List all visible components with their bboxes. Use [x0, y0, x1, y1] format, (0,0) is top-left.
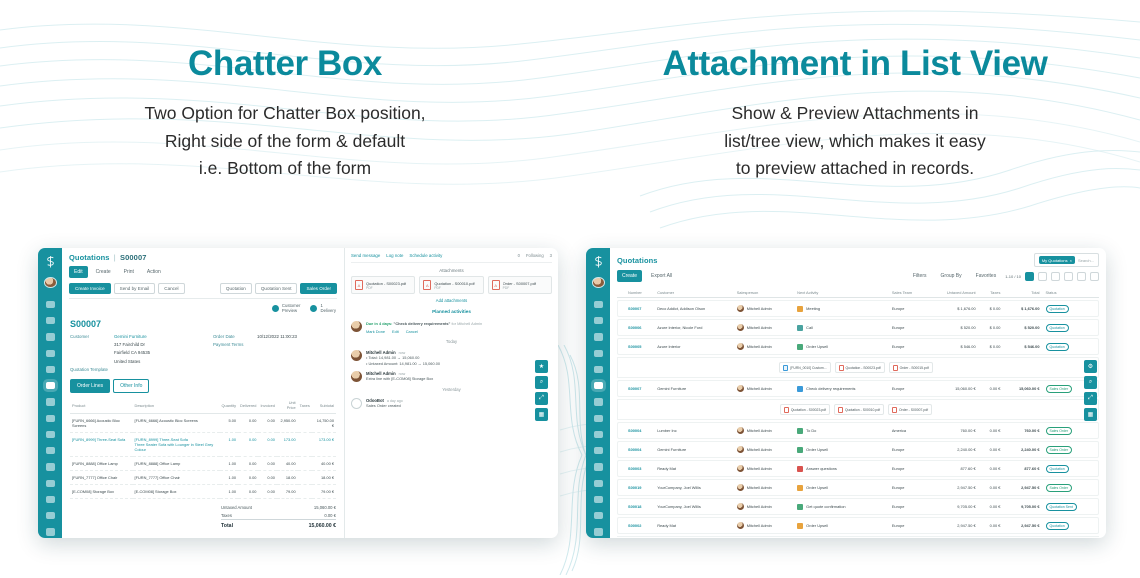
line-product: [FURN_8888] Office Lamp [70, 457, 133, 471]
table-row[interactable]: S00006Azure Interior, Nicole FordMitchel… [617, 319, 1099, 336]
activity-icon [797, 485, 803, 491]
record-number[interactable]: S00018 [628, 504, 641, 509]
avatar [737, 484, 744, 491]
col-delivered[interactable]: Delivered [238, 397, 258, 414]
statusbar-quotation-sent[interactable]: Quotation Sent [255, 283, 298, 294]
attachment-chip[interactable]: Quotation - S00023.pdf [835, 362, 885, 373]
planned-activities-heading[interactable]: Planned activities [351, 309, 552, 314]
cell-customer: YourCompany, Joel Willis [654, 498, 734, 515]
delivery-label: Delivery [320, 308, 336, 313]
avatar [737, 522, 744, 529]
table-row[interactable]: S00007Gemini FurnitureMitchell AdminChec… [617, 380, 1099, 397]
breadcrumb-record: S00007 [120, 253, 146, 262]
message-body: • Total: 14,981.00 → 15,060.00• Untaxed … [366, 355, 440, 367]
cell-total: 2,240.00 € [1003, 441, 1042, 458]
search-icon[interactable]: ⌕ [535, 376, 548, 389]
cell-sales-team: America [889, 422, 928, 439]
edit-activity-link[interactable]: Edit [392, 329, 399, 334]
create-button[interactable]: Create [617, 270, 642, 282]
group-by-button[interactable]: Group By [936, 270, 967, 282]
activity-icon [797, 428, 803, 434]
attachment-chip[interactable]: AQuotation - S00010.pdfPDF [419, 276, 483, 294]
sidebar-item-messages[interactable] [594, 301, 603, 308]
attachment-chip[interactable]: Order - S00015.pdf [889, 362, 933, 373]
total-label: Untaxed Amount [221, 505, 252, 510]
attachment-name: Quotation - S00023.pdf [791, 408, 826, 412]
salesperson-name: Mitchell Admin [747, 504, 772, 509]
activity-label: Check delivery requirements [806, 386, 855, 391]
customer-preview-button[interactable]: CustomerPreview [272, 303, 301, 314]
cell-sales-team: Europe [889, 338, 928, 355]
avatar [737, 446, 744, 453]
attachment-chip[interactable]: AQuotation - S00023.pdfPDF [351, 276, 415, 294]
cell-status: Quotation [1043, 517, 1100, 534]
pdf-icon: A [355, 280, 363, 290]
activity-icon [797, 504, 803, 510]
line-delivered: 0.00 [238, 471, 258, 485]
total-value: 0.00 € [324, 513, 336, 518]
salesperson-name: Mitchell Admin [747, 523, 772, 528]
cancel-button[interactable]: Cancel [158, 283, 184, 294]
sidebar-item-inventory[interactable] [594, 415, 603, 422]
row-select-cell [617, 479, 625, 496]
sidebar-item-recruitment[interactable] [594, 496, 603, 503]
delivery-count: 1 [320, 303, 322, 308]
activity-icon[interactable] [1090, 272, 1099, 281]
grid-icon[interactable]: ▦ [1084, 408, 1097, 421]
avatar [737, 385, 744, 392]
grid-icon[interactable]: ▦ [535, 408, 548, 421]
cell-salesperson: Mitchell Admin [734, 517, 794, 534]
attachment-chip[interactable]: Quotation - S00010.pdf [834, 404, 884, 415]
attachment-name: Quotation - S00010.pdf [845, 408, 880, 412]
favorites-button[interactable]: Favorites [971, 270, 1002, 282]
sidebar-item-contacts[interactable] [46, 350, 55, 357]
table-row[interactable]: [FURN_8999] Three-Seat Sofa[FURN_8999] T… [70, 433, 336, 457]
line-unit-price: 79.00 [277, 485, 298, 499]
cell-customer: Gemini Furniture [654, 441, 734, 458]
screenshot-attachment-list-view: Quotations My Quotations × Search... Cre… [586, 248, 1106, 538]
line-quantity: 1.00 [220, 433, 239, 457]
close-icon[interactable]: × [1070, 258, 1072, 263]
col-unit-price[interactable]: Unit Price [277, 397, 298, 414]
connector-wave [556, 345, 588, 575]
col-quantity[interactable]: Quantity [220, 397, 239, 414]
avatar [351, 398, 362, 409]
record-number[interactable]: S00007 [628, 386, 641, 391]
list-pane: Quotations My Quotations × Search... Cre… [610, 248, 1106, 538]
activity-icon [797, 523, 803, 529]
activity-icon [797, 344, 803, 350]
sidebar-item-invoicing[interactable] [46, 398, 55, 405]
cell-next-activity: Meeting [794, 300, 889, 317]
sidebar-item-calendar[interactable] [46, 333, 55, 340]
message-author: OdooBota day ago [366, 398, 403, 403]
sidebar-item-inventory[interactable] [46, 415, 55, 422]
sidebar-item-apps[interactable] [46, 512, 55, 519]
avatar [737, 427, 744, 434]
add-attachments-button[interactable]: Add attachments [351, 298, 552, 303]
cell-next-activity: Order Upsell [794, 441, 889, 458]
sidebar-item-employees[interactable] [594, 480, 603, 487]
line-unit-price: 18.00 [277, 471, 298, 485]
sidebar-item-website[interactable] [594, 463, 603, 470]
screenshot-chatter-box: Quotations | S00007 Edit Create Print Ac… [38, 248, 558, 538]
message-body: Extra line with [E-COM08] Storage Box [366, 376, 433, 382]
cell-number: S00004 [625, 441, 654, 458]
footer-untaxed: 36,771.60 [927, 536, 978, 538]
record-number[interactable]: S00005 [628, 344, 641, 349]
sidebar-item-crm[interactable] [46, 366, 55, 373]
activity-label: To Do [806, 428, 816, 433]
salesperson-name: Mitchell Admin [747, 344, 772, 349]
image-icon [783, 365, 788, 371]
cell-salesperson: Mitchell Admin [734, 422, 794, 439]
row-select-cell [617, 460, 625, 477]
attachment-name: Quotation - S00023.pdf [846, 366, 881, 370]
pdf-icon [784, 407, 789, 413]
attachment-name: Quotation - S00010.pdf [434, 281, 474, 286]
attachment-list: AQuotation - S00023.pdfPDFAQuotation - S… [351, 276, 552, 294]
cell-status: Sales Order [1043, 479, 1100, 496]
cell-taxes: $ 0.00 [979, 319, 1004, 336]
quotation-template-label: Quotation Template [70, 367, 130, 372]
row-select-cell [617, 422, 625, 439]
attachment-type: PDF [503, 286, 536, 290]
form-pane: Quotations | S00007 Edit Create Print Ac… [62, 248, 344, 538]
sidebar-item-invoicing[interactable] [594, 398, 603, 405]
statusbar-quotation[interactable]: Quotation [220, 283, 252, 294]
followers-count[interactable]: 0 [518, 253, 520, 258]
table-row[interactable]: S00007Deco Addict, Addison OlsonMitchell… [617, 300, 1099, 317]
record-number[interactable]: S00006 [628, 325, 641, 330]
page-title-left: Chatter Box [0, 44, 570, 84]
following-count[interactable]: 3 [550, 253, 552, 258]
sidebar-item-apps[interactable] [594, 512, 603, 519]
line-taxes [298, 433, 312, 457]
cell-customer: Deco Addict, Addison Olson [654, 300, 734, 317]
cell-next-activity: Check delivery requirements [794, 380, 889, 397]
cell-sales-team: Europe [889, 319, 928, 336]
sidebar-item-website[interactable] [46, 463, 55, 470]
sidebar-item-recruitment[interactable] [46, 496, 55, 503]
cell-total: 15,060.00 € [1003, 380, 1042, 397]
activity-label: Order Upsell [806, 523, 828, 528]
sidebar-item-contacts[interactable] [594, 350, 603, 357]
row-select-cell [617, 319, 625, 336]
record-number[interactable]: S00004 [628, 428, 641, 433]
app-sidebar-right [586, 248, 610, 538]
cell-next-activity: Order Upsell [794, 517, 889, 534]
address-line-1: 317 Fairchild Dr [114, 342, 145, 348]
sidebar-item-settings[interactable] [46, 528, 55, 535]
list-icon[interactable] [1025, 272, 1034, 281]
activity-label: Answer questions [806, 466, 837, 471]
table-row[interactable]: S00019YourCompany, Joel WillisMitchell A… [617, 479, 1099, 496]
line-quantity: 1.00 [220, 457, 239, 471]
attachment-chip[interactable]: [FURN_0010] Custom... [779, 362, 830, 373]
table-row[interactable]: S00004Lumber IncMitchell AdminTo DoAmeri… [617, 422, 1099, 439]
attachment-type: PDF [434, 286, 474, 290]
order-totals: Untaxed Amount15,060.00 €Taxes0.00 €Tota… [221, 503, 336, 531]
table-row[interactable]: S00005Azure InteriorMitchell AdminOrder … [617, 338, 1099, 355]
line-taxes [298, 485, 312, 499]
order-date-value[interactable]: 10/12/2022 11:00:23 [257, 334, 297, 340]
line-description: [FURN_7777] Office Chair [133, 471, 220, 485]
customer-value[interactable]: Gemini Furniture [114, 334, 147, 340]
total-row: Total15,060.00 € [221, 519, 336, 531]
col-next-activity[interactable]: Next Activity [794, 288, 889, 298]
cell-customer: Azure Interior, Nicole Ford [654, 319, 734, 336]
breadcrumb: Quotations | S00007 [69, 253, 337, 262]
sidebar-item-messages[interactable] [46, 301, 55, 308]
search-placeholder: Search... [1078, 258, 1094, 263]
col-sales-team[interactable]: Sales Team [889, 288, 928, 298]
activity-item: Due in 4 days: "Check delivery requireme… [351, 321, 552, 334]
eye-icon [272, 305, 279, 312]
sidebar-item-sales[interactable] [594, 382, 603, 389]
schedule-activity-button[interactable]: Schedule activity [409, 253, 442, 258]
col-customer[interactable]: Customer [654, 288, 734, 298]
form-column-left: CustomerGemini Furniture 317 Fairchild D… [70, 334, 193, 375]
following-label[interactable]: Following [526, 253, 544, 258]
star-icon[interactable]: ★ [535, 360, 548, 373]
col-taxes[interactable]: Taxes [979, 288, 1004, 298]
cell-status: Quotation [1043, 338, 1100, 355]
sidebar-item-settings[interactable] [594, 528, 603, 535]
attachment-name: Order - S00007.pdf [899, 408, 928, 412]
col-untaxed-amount[interactable]: Untaxed Amount [927, 288, 978, 298]
table-row[interactable]: S00004Gemini FurnitureMitchell AdminOrde… [617, 441, 1099, 458]
table-row[interactable]: S00003Ready MatMitchell AdminAnswer ques… [617, 460, 1099, 477]
create-button[interactable]: Create [91, 266, 116, 278]
calendar-icon[interactable] [1051, 272, 1060, 281]
log-note-button[interactable]: Log note [386, 253, 403, 258]
cell-sales-team: Europe [889, 460, 928, 477]
record-number[interactable]: S00019 [628, 485, 641, 490]
expand-icon[interactable]: ⤢ [535, 392, 548, 405]
table-row[interactable]: S00018YourCompany, Joel WillisMitchell A… [617, 498, 1099, 515]
cell-number: S00004 [625, 422, 654, 439]
cell-untaxed: $ 520.00 [927, 319, 978, 336]
breadcrumb-root[interactable]: Quotations [69, 253, 110, 262]
cell-status: Sales Order [1043, 441, 1100, 458]
col-description[interactable]: Description [133, 397, 220, 414]
salesperson-name: Mitchell Admin [747, 466, 772, 471]
table-row[interactable]: [FURN_7777] Office Chair[FURN_7777] Offi… [70, 471, 336, 485]
cell-salesperson: Mitchell Admin [734, 441, 794, 458]
col-taxes[interactable]: Taxes [298, 397, 312, 414]
gear-icon[interactable]: ⚙ [1084, 360, 1097, 373]
sidebar-item-calendar[interactable] [594, 333, 603, 340]
action-button[interactable]: Action [142, 266, 166, 278]
send-message-button[interactable]: Send message [351, 253, 380, 258]
cell-untaxed: 9,705.00 € [927, 498, 978, 515]
payment-terms-label: Payment Terms [213, 342, 257, 347]
headers-region: Chatter Box Two Option for Chatter Box p… [0, 0, 1140, 183]
table-row[interactable]: [FURN_8888] Office Lamp[FURN_8888] Offic… [70, 457, 336, 471]
cell-taxes: 0.00 € [979, 441, 1004, 458]
form-body: S00007 CustomerGemini Furniture 317 Fair… [62, 316, 344, 535]
sidebar-item-manufacturing[interactable] [46, 431, 55, 438]
line-delivered: 0.00 [238, 485, 258, 499]
sidebar-item-notes[interactable] [46, 317, 55, 324]
print-button[interactable]: Print [119, 266, 139, 278]
search-facet-my-quotations[interactable]: My Quotations × [1039, 256, 1075, 264]
sidebar-item-manufacturing[interactable] [594, 431, 603, 438]
attachment-chip[interactable]: Order - S00007.pdf [888, 404, 932, 415]
activity-label: Meeting [806, 306, 820, 311]
message-body: Sales Order created [366, 403, 403, 409]
cell-sales-team: Europe [889, 517, 928, 534]
cell-salesperson: Mitchell Admin [734, 338, 794, 355]
attachment-name: Quotation - S00023.pdf [366, 281, 406, 286]
table-row[interactable]: S00002Ready MatMitchell AdminOrder Upsel… [617, 517, 1099, 534]
edit-button[interactable]: Edit [69, 266, 88, 278]
col-product[interactable]: Product [70, 397, 133, 414]
line-invoiced: 0.00 [258, 485, 277, 499]
cell-next-activity: Answer questions [794, 460, 889, 477]
export-all-button[interactable]: Export All [646, 270, 677, 282]
record-number[interactable]: S00007 [628, 306, 641, 311]
table-row[interactable]: [FURN_6666] Acoustic Bloc Screens[FURN_6… [70, 414, 336, 433]
cell-untaxed: 2,240.00 € [927, 441, 978, 458]
avatar [737, 324, 744, 331]
line-subtotal: 14,750.00 € [312, 414, 336, 433]
tab-other-info[interactable]: Other Info [113, 379, 149, 393]
cell-customer: YourCompany, Joel Willis [654, 479, 734, 496]
expand-icon[interactable]: ⤢ [1084, 392, 1097, 405]
cell-untaxed: $ 546.00 [927, 338, 978, 355]
form-topbar: Quotations | S00007 Edit Create Print Ac… [62, 248, 344, 299]
app-logo-icon[interactable] [590, 255, 607, 269]
cell-number: S00007 [625, 380, 654, 397]
pdf-icon [892, 407, 897, 413]
record-number[interactable]: S00003 [628, 466, 641, 471]
filters-button[interactable]: Filters [908, 270, 932, 282]
record-number[interactable]: S00004 [628, 447, 641, 452]
sidebar-item-purchase[interactable] [594, 447, 603, 454]
col-invoiced[interactable]: Invoiced [258, 397, 277, 414]
tab-order-lines[interactable]: Order Lines [70, 379, 110, 393]
attachment-name: Order - S00015.pdf [900, 366, 929, 370]
table-header-row: Product Description Quantity Delivered I… [70, 397, 336, 414]
cell-taxes: 0.00 € [979, 460, 1004, 477]
search-input[interactable]: My Quotations × Search... [1034, 253, 1099, 267]
line-product: [E-COM08] Storage Box [70, 485, 133, 499]
salesperson-name: Mitchell Admin [747, 325, 772, 330]
send-by-email-button[interactable]: Send by Email [114, 283, 156, 294]
app-sidebar-left [38, 248, 62, 538]
avatar[interactable] [592, 277, 605, 288]
avatar [737, 305, 744, 312]
cell-untaxed: 877.60 € [927, 460, 978, 477]
pdf-icon [893, 365, 898, 371]
status-badge: Quotation [1046, 305, 1069, 313]
line-description: [FURN_6666] Acoustic Bloc Screens [133, 414, 220, 433]
line-invoiced: 0.00 [258, 433, 277, 457]
line-quantity: 5.00 [220, 414, 239, 433]
activity-icon [797, 466, 803, 472]
rail-buttons-right: ⚙ ⌕ ⤢ ▦ [1084, 360, 1097, 421]
quotations-list-body: S00007Deco Addict, Addison OlsonMitchell… [617, 300, 1099, 538]
avatar[interactable] [44, 277, 57, 288]
line-product: [FURN_6666] Acoustic Bloc Screens [70, 414, 133, 433]
col-total[interactable]: Total [1003, 288, 1042, 298]
total-label: Total [221, 523, 233, 529]
cell-taxes: 0.00 € [979, 517, 1004, 534]
line-product: [FURN_7777] Office Chair [70, 471, 133, 485]
salesperson-name: Mitchell Admin [747, 428, 772, 433]
table-row[interactable]: [E-COM08] Storage Box[E-COM08] Storage B… [70, 485, 336, 499]
message-time: now [399, 372, 406, 376]
cell-taxes: 0.00 € [979, 479, 1004, 496]
form-tabs: Order Lines Other Info [70, 379, 336, 393]
line-quantity: 1.00 [220, 471, 239, 485]
record-number[interactable]: S00002 [628, 523, 641, 528]
cell-taxes: 0.00 € [979, 498, 1004, 515]
cell-total: 2,947.50 € [1003, 479, 1042, 496]
mark-done-link[interactable]: Mark Done [366, 329, 385, 334]
sidebar-item-sales[interactable] [46, 382, 55, 389]
delivery-button[interactable]: 1Delivery [310, 303, 336, 314]
smart-buttons: CustomerPreview 1Delivery [62, 299, 344, 316]
attachment-cell: [FURN_0010] Custom...Quotation - S00023.… [617, 357, 1099, 378]
sidebar-item-crm[interactable] [594, 366, 603, 373]
status-badge: Quotation [1046, 522, 1069, 530]
cell-number: S00005 [625, 338, 654, 355]
sidebar-item-employees[interactable] [46, 480, 55, 487]
activity-title: "Check delivery requirements" [393, 321, 450, 326]
col-number[interactable]: Number [625, 288, 654, 298]
sidebar-item-purchase[interactable] [46, 447, 55, 454]
status-badge: Quotation [1046, 343, 1069, 351]
line-description: [FURN_8888] Office Lamp [133, 457, 220, 471]
filter-icon[interactable]: ⌕ [1084, 376, 1097, 389]
kanban-icon[interactable] [1038, 272, 1047, 281]
pdf-icon [838, 407, 843, 413]
footer-total: 36,771.60 [1003, 536, 1042, 538]
rail-buttons-left: ★ ⌕ ⤢ ▦ [535, 360, 548, 421]
pdf-icon [839, 365, 844, 371]
cell-sales-team: Europe [889, 380, 928, 397]
create-invoice-button[interactable]: Create Invoice [69, 283, 111, 294]
facet-label: My Quotations [1042, 258, 1068, 263]
order-lines-body: [FURN_6666] Acoustic Bloc Screens[FURN_6… [70, 414, 336, 499]
cell-taxes: 0.00 € [979, 380, 1004, 397]
pagination[interactable]: 1-10 / 10 [1005, 274, 1021, 279]
attachment-chip[interactable]: AOrder - S00007.pdfPDF [488, 276, 552, 294]
salesperson-name: Mitchell Admin [747, 447, 772, 452]
cell-number: S00019 [625, 479, 654, 496]
sidebar-item-notes[interactable] [594, 317, 603, 324]
line-subtotal: 40.00 € [312, 457, 336, 471]
pivot-icon[interactable] [1064, 272, 1073, 281]
message-time: a day ago [387, 399, 403, 403]
col-status[interactable]: Status [1043, 288, 1100, 298]
col-subtotal[interactable]: Subtotal [312, 397, 336, 414]
cell-untaxed: 2,947.50 € [927, 517, 978, 534]
graph-icon[interactable] [1077, 272, 1086, 281]
page-title-right: Attachment in List View [570, 44, 1140, 84]
attachment-chip[interactable]: Quotation - S00023.pdf [780, 404, 830, 415]
line-invoiced: 0.00 [258, 471, 277, 485]
line-quantity: 1.00 [220, 485, 239, 499]
statusbar-sales-order[interactable]: Sales Order [300, 283, 337, 294]
app-logo-icon[interactable] [42, 255, 59, 269]
col-salesperson[interactable]: Salesperson [734, 288, 794, 298]
cancel-activity-link[interactable]: Cancel [406, 329, 418, 334]
